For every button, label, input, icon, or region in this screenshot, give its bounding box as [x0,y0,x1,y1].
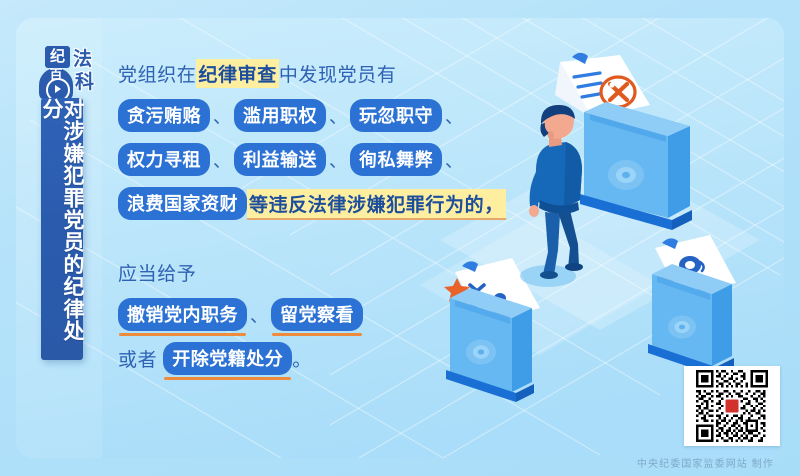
offense-label: 玩忽职守 [350,99,442,132]
vertical-title-text: 对涉嫌犯罪党员的纪律处分 [41,98,83,360]
penalty-label: 开除党籍处分 [163,342,292,375]
offense-tag: 利益输送 [234,143,326,176]
paragraph-spacer [118,231,538,257]
copy-line-3-offenses: 权力寻租 、 利益输送 、 徇私舞弊 、 [118,143,538,176]
copy-line-1: 党组织在 纪律审查 中发现党员有 [118,58,538,88]
qr-code[interactable] [684,366,780,446]
offense-tag: 浪费国家资财 [118,187,247,220]
penalty-label: 留党察看 [271,298,363,331]
line6-prefix: 或者 [118,345,157,372]
penalty-tag: 开除党籍处分 [163,342,292,375]
line1-suffix: 中发现党员有 [279,60,397,87]
offense-tag: 玩忽职守 [350,99,442,132]
vertical-title-badge: 对涉嫌犯罪党员的纪律处分 [41,98,83,360]
logo-char-fa: 法 [73,50,92,69]
logo-char-ji: 纪 [45,46,70,68]
offense-label: 权力寻租 [118,143,210,176]
offense-label: 徇私舞弊 [350,143,442,176]
offense-label: 贪污贿赂 [118,99,210,132]
copy-line-5: 应当给予 [118,257,538,287]
separator-2: 、 [326,103,350,129]
separator-1: 、 [210,103,234,129]
copy-line-2-offenses: 贪污贿赂 、 滥用职权 、 玩忽职守 、 [118,99,538,132]
separator-4: 、 [210,147,234,173]
line1-highlight: 纪律审查 [196,59,278,88]
copy-line-7-penalties: 或者 开除党籍处分 。 [118,342,538,375]
offense-tag: 滥用职权 [234,99,326,132]
offense-tag: 徇私舞弊 [350,143,442,176]
line5-text: 应当给予 [118,259,196,286]
offense-label: 利益输送 [234,143,326,176]
body-copy: 党组织在 纪律审查 中发现党员有 贪污贿赂 、 滥用职权 、 玩忽职守 、 权力… [118,58,538,386]
offense-tag: 贪污贿赂 [118,99,210,132]
period-mark: 。 [292,345,312,372]
brand-logo: 纪 法 科 百 [36,46,110,102]
separator-5: 、 [326,147,350,173]
separator-6: 、 [442,147,466,173]
offense-label: 滥用职权 [234,99,326,132]
separator-7: 、 [247,302,271,328]
separator-3: 、 [442,103,466,129]
poster-canvas: 纪 法 科 百 对涉嫌犯罪党员的纪律处分 党组织在 纪律审查 中发现党员有 贪污… [0,0,800,476]
footer-credit: 中央纪委国家监委网站 制作 [637,455,774,470]
penalty-tag: 撤销党内职务 [118,298,247,331]
penalty-tag: 留党察看 [271,298,363,331]
line1-prefix: 党组织在 [118,60,196,87]
copy-line-4-offenses: 浪费国家资财 等违反法律涉嫌犯罪行为的， [118,187,538,220]
copy-line-6-penalties: 撤销党内职务 、 留党察看 [118,298,538,331]
offense-tag: 权力寻租 [118,143,210,176]
offense-label: 浪费国家资财 [118,187,247,220]
logo-char-ke: 科 [75,73,94,92]
qr-center-logo [724,398,741,415]
line4-highlight: 等违反法律涉嫌犯罪行为的， [247,189,506,218]
penalty-label: 撤销党内职务 [118,298,247,331]
